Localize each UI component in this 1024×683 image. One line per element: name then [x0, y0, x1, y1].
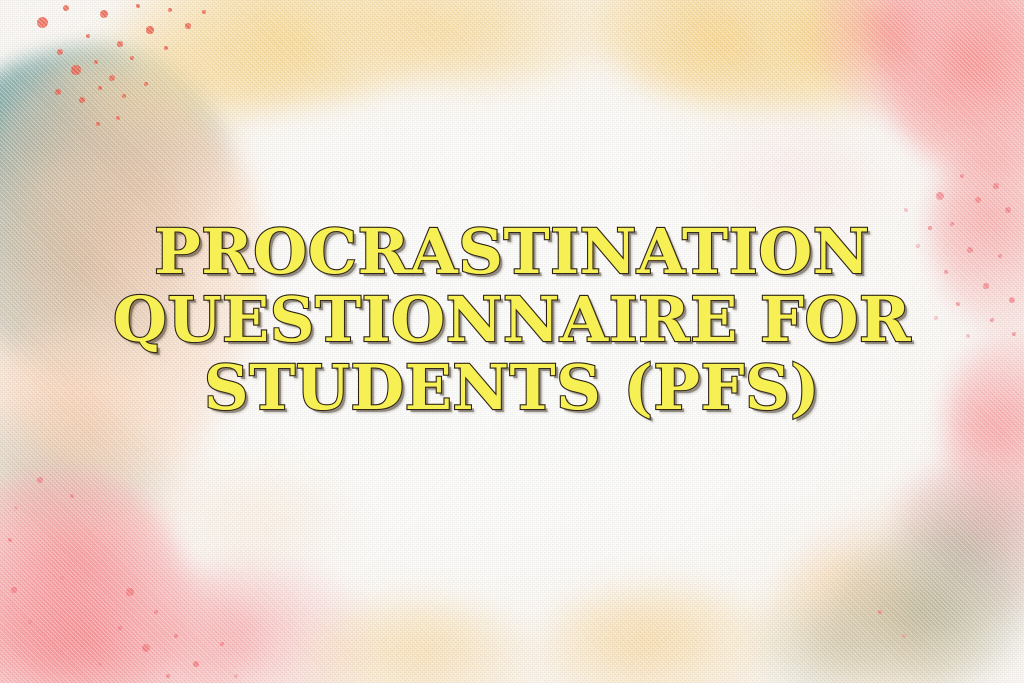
- splatter-dot: [142, 644, 150, 652]
- splatter-dot: [130, 56, 134, 60]
- splatter-dot: [144, 82, 148, 86]
- splatter-dot: [79, 97, 85, 103]
- splatter-dot: [96, 122, 99, 125]
- splatter-dot: [57, 49, 64, 56]
- splatter-dot: [37, 17, 48, 28]
- splatter-dot: [202, 10, 206, 14]
- splatter-dot: [193, 661, 199, 667]
- splatter-dot: [146, 26, 153, 33]
- title-line-2: QUESTIONNAIRE FOR: [0, 286, 1024, 354]
- splatter-dot: [8, 538, 12, 542]
- splatter-dot: [164, 46, 168, 50]
- splatter-dot: [185, 23, 190, 28]
- splatter-dot: [86, 34, 90, 38]
- splatter-dot: [975, 197, 981, 203]
- splatter-dot: [122, 94, 127, 99]
- splatter-dot: [902, 634, 906, 638]
- slide-title: PROCRASTINATION QUESTIONNAIRE FOR STUDEN…: [0, 218, 1024, 422]
- splatter-dot: [174, 634, 178, 638]
- title-line-1: PROCRASTINATION: [0, 218, 1024, 286]
- splatter-dot: [109, 75, 115, 81]
- splatter-dot: [98, 662, 102, 666]
- splatter-dot: [993, 183, 998, 188]
- splatter-dot: [126, 588, 133, 595]
- splatter-dot: [168, 8, 172, 12]
- splatter-dot: [60, 576, 64, 580]
- splatter-dot: [117, 41, 122, 46]
- splatter-dot: [166, 674, 171, 679]
- splatter-dot: [100, 10, 108, 18]
- splatter-dot: [136, 4, 140, 8]
- splatter-dot: [28, 620, 32, 624]
- splatter-dot: [1005, 207, 1012, 214]
- title-line-3: STUDENTS (PFS): [0, 354, 1024, 422]
- splatter-dot: [98, 86, 102, 90]
- splatter-dot: [11, 587, 16, 592]
- splatter-dot: [71, 65, 80, 74]
- splatter-dot: [70, 494, 74, 498]
- splatter-dot: [94, 60, 99, 65]
- splatter-dot: [14, 506, 18, 510]
- splatter-dot: [37, 477, 43, 483]
- splatter-dot: [234, 674, 238, 678]
- splatter-dot: [154, 610, 159, 615]
- splatter-dot: [960, 174, 965, 179]
- splatter-dot: [118, 626, 122, 630]
- splatter-dot: [936, 192, 945, 201]
- splatter-dot: [220, 642, 224, 646]
- splatter-dot: [63, 5, 69, 11]
- title-slide: PROCRASTINATION QUESTIONNAIRE FOR STUDEN…: [0, 0, 1024, 683]
- splatter-dot: [55, 89, 61, 95]
- splatter-dot: [878, 610, 882, 614]
- splatter-dot: [904, 208, 908, 212]
- splatter-dot: [116, 116, 120, 120]
